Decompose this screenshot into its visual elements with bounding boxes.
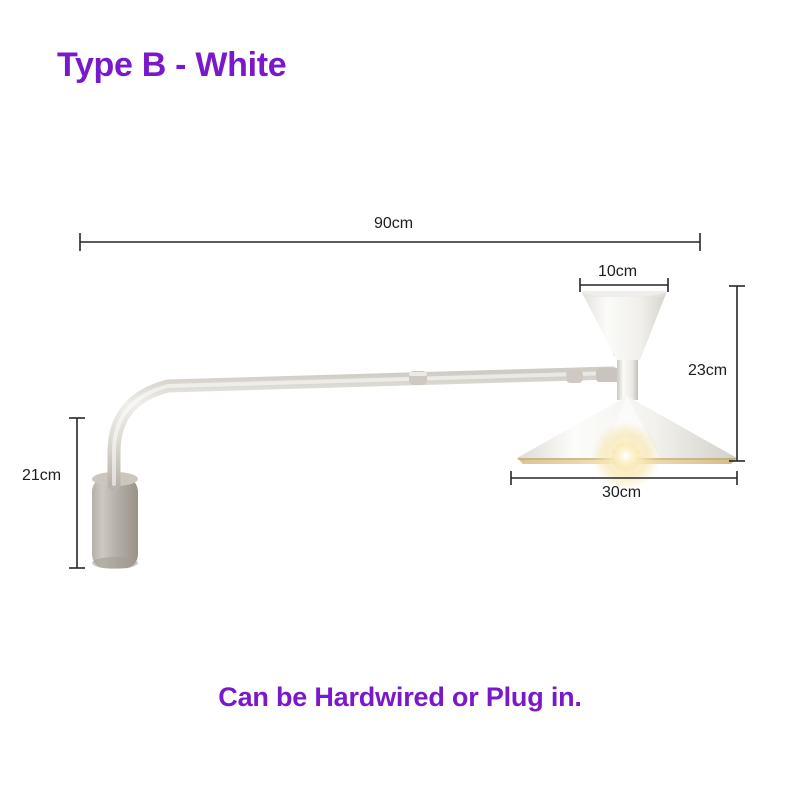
dimension-label-mount-height: 21cm	[22, 467, 61, 485]
dimension-lines	[69, 233, 745, 568]
dimension-label-lower-shade-width: 30cm	[602, 484, 641, 502]
dimension-label-upper-shade-width: 10cm	[598, 263, 637, 281]
swing-arm	[114, 373, 612, 484]
bulb-glow	[592, 422, 660, 490]
product-diagram-page: Type B - White	[0, 0, 800, 800]
wiring-note: Can be Hardwired or Plug in.	[0, 682, 800, 713]
arm-joint-collar	[409, 371, 427, 385]
lamp-body	[92, 285, 737, 569]
dimension-label-shade-height: 23cm	[688, 362, 727, 380]
dimension-label-arm-reach: 90cm	[374, 215, 413, 233]
dimension-line-21cm	[69, 418, 85, 568]
dimension-line-23cm	[729, 286, 745, 461]
dimension-line-90cm	[80, 233, 700, 251]
lamp-illustration	[0, 0, 800, 800]
upper-cone-shade	[581, 285, 667, 360]
